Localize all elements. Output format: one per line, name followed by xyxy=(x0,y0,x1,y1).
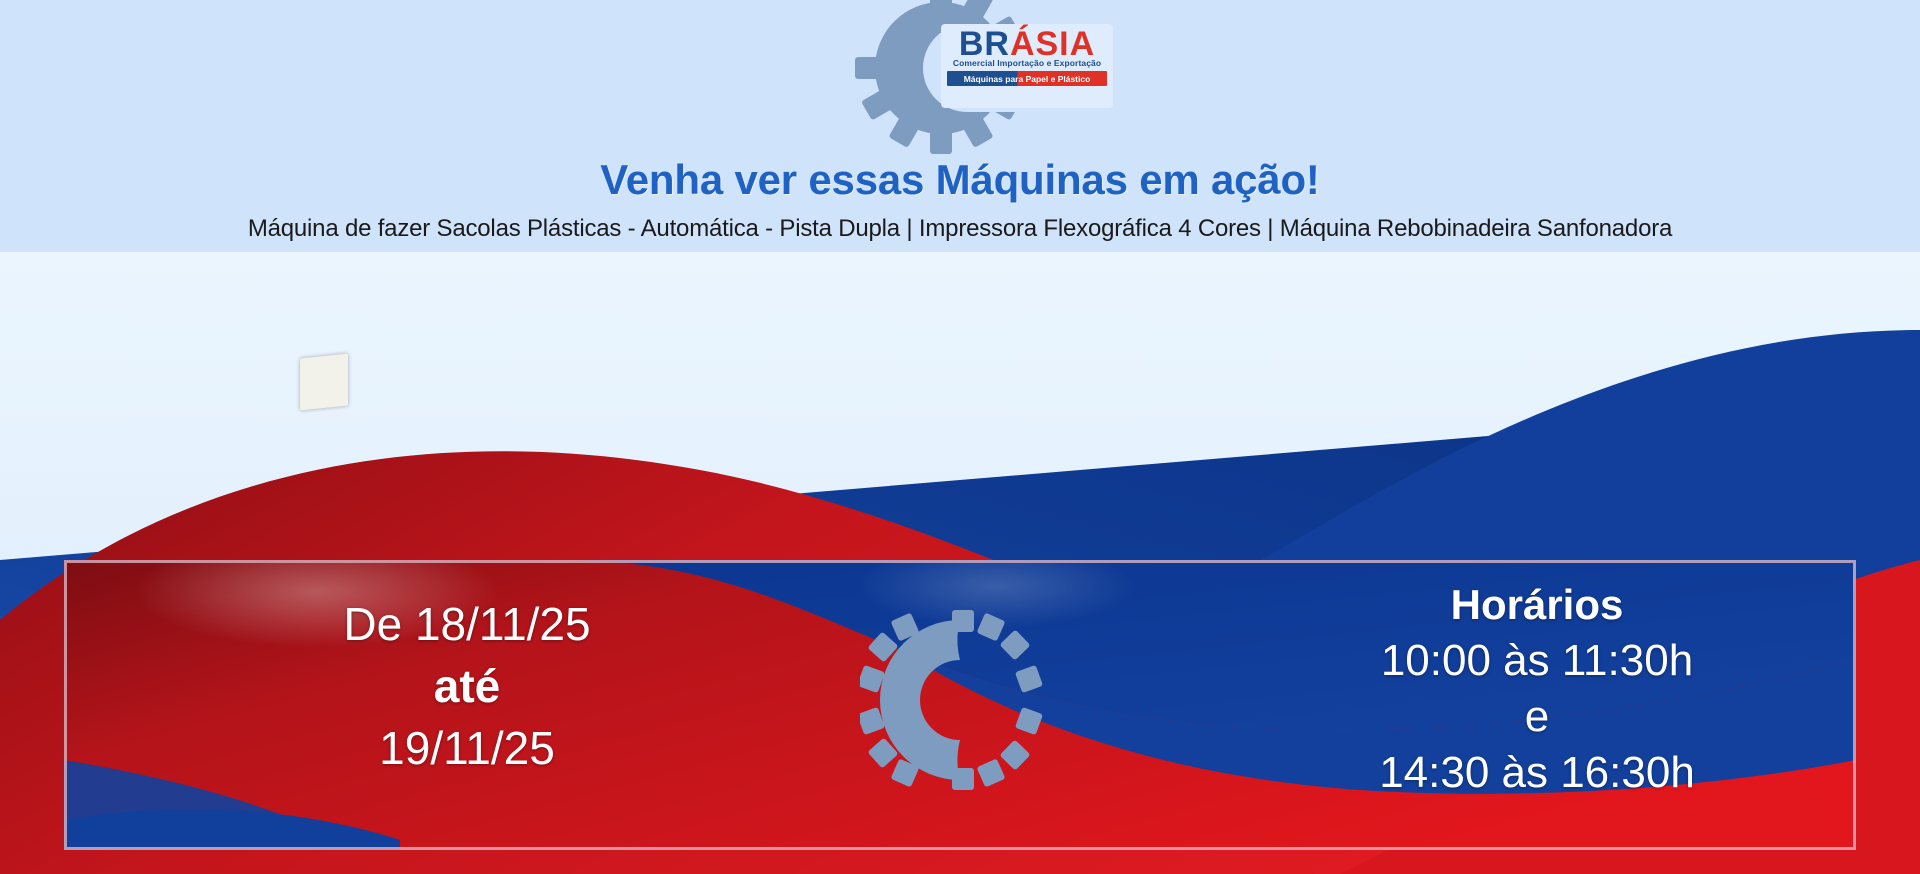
banner-stage: De 18/11/25 até 19/11/25 Horários 10:00 … xyxy=(0,0,1920,874)
event-dates-block: De 18/11/25 até 19/11/25 xyxy=(187,593,747,779)
page-subtitle: Máquina de fazer Sacolas Plásticas - Aut… xyxy=(0,215,1920,243)
page-title: Venha ver essas Máquinas em ação! xyxy=(0,156,1920,204)
brand-name: BRÁSIA xyxy=(959,27,1095,61)
schedule-conjunction: e xyxy=(1247,689,1827,745)
banner-header: BRÁSIA Comercial Importação e Exportação… xyxy=(0,0,1920,252)
brand-segment-text: Máquinas para Papel e Plástico xyxy=(964,74,1091,84)
event-date-from: De 18/11/25 xyxy=(187,593,747,655)
gear-c-icon xyxy=(860,610,1060,790)
brand-logo-card: BRÁSIA Comercial Importação e Exportação… xyxy=(941,24,1113,108)
brand-segment-bar: Máquinas para Papel e Plástico xyxy=(947,71,1107,86)
brand-tagline: Comercial Importação e Exportação xyxy=(953,58,1101,68)
event-schedule-block: Horários 10:00 às 11:30h e 14:30 às 16:3… xyxy=(1247,577,1827,801)
brand-logo[interactable]: BRÁSIA Comercial Importação e Exportação… xyxy=(855,0,1115,132)
schedule-slot-morning: 10:00 às 11:30h xyxy=(1247,633,1827,689)
event-date-until-label: até xyxy=(187,655,747,717)
schedule-slot-afternoon: 14:30 às 16:30h xyxy=(1247,745,1827,801)
event-date-to: 19/11/25 xyxy=(187,717,747,779)
schedule-title: Horários xyxy=(1247,577,1827,633)
